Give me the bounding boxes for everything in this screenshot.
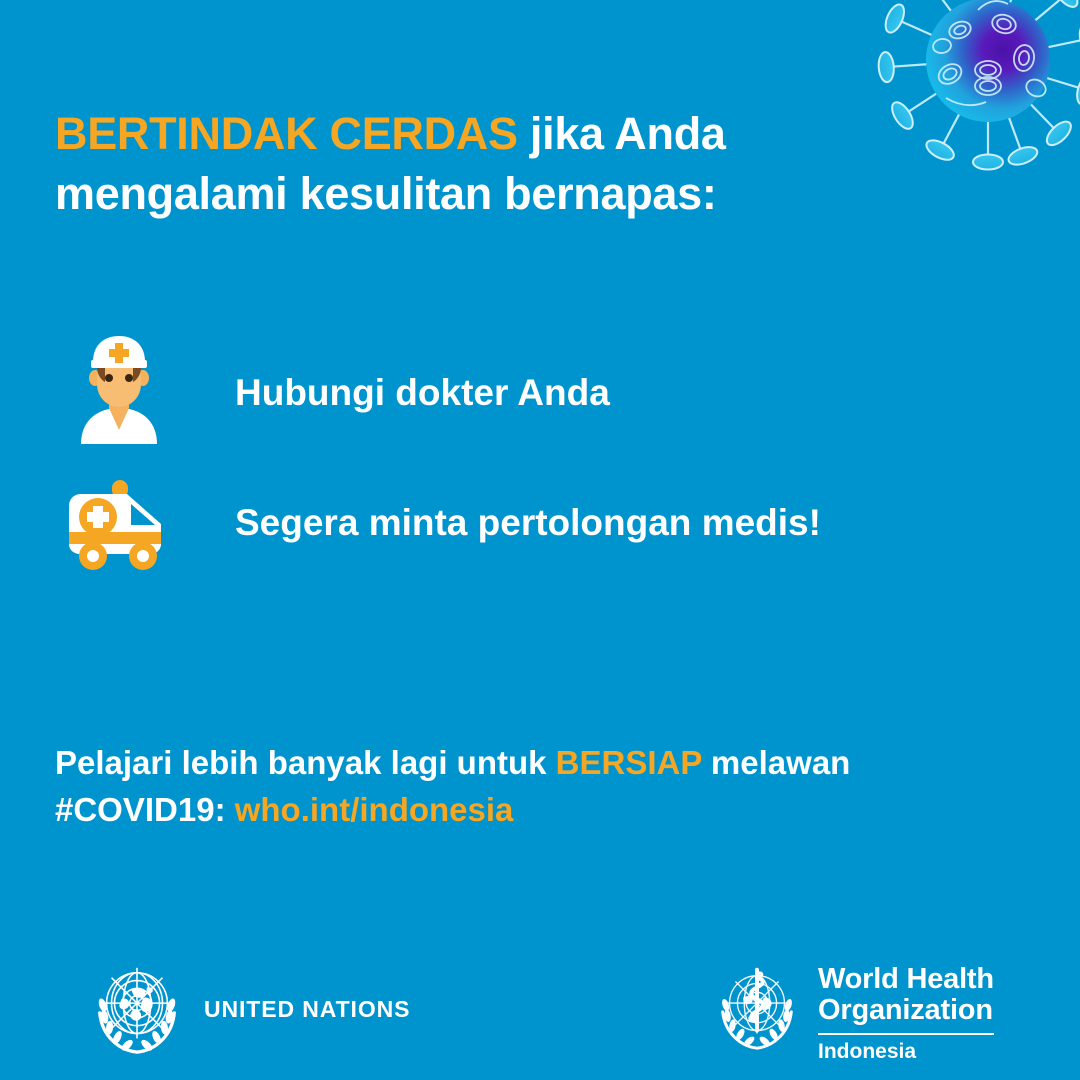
cta-accent: BERSIAP <box>556 744 702 781</box>
who-logo: World Health Organization Indonesia <box>708 958 994 1064</box>
action-item-seek-medical-help: Segera minta pertolongan medis! <box>55 476 935 604</box>
coronavirus-illustration <box>838 0 1080 238</box>
headline-accent: BERTINDAK CERDAS <box>55 108 518 159</box>
united-nations-label: UNITED NATIONS <box>204 996 410 1023</box>
action-list: Hubungi dokter Anda <box>55 330 935 604</box>
doctor-icon <box>55 330 183 444</box>
headline: BERTINDAK CERDAS jika Anda mengalami kes… <box>55 104 855 225</box>
ambulance-icon <box>55 476 183 572</box>
cta-url-link[interactable]: who.int/indonesia <box>235 791 514 828</box>
cta-lead: Pelajari lebih banyak lagi untuk <box>55 744 556 781</box>
who-wordmark: World Health Organization Indonesia <box>818 958 994 1064</box>
action-label: Hubungi dokter Anda <box>235 330 610 418</box>
who-divider <box>818 1033 994 1035</box>
call-to-action: Pelajari lebih banyak lagi untuk BERSIAP… <box>55 740 995 834</box>
who-line-2: Organization <box>818 995 994 1026</box>
who-line-1: World Health <box>818 964 994 995</box>
action-label: Segera minta pertolongan medis! <box>235 476 821 548</box>
united-nations-emblem <box>88 960 186 1058</box>
united-nations-logo: UNITED NATIONS <box>88 960 410 1058</box>
world-health-organization-emblem <box>708 958 806 1056</box>
action-item-call-doctor: Hubungi dokter Anda <box>55 330 935 458</box>
who-country-label: Indonesia <box>818 1040 994 1064</box>
